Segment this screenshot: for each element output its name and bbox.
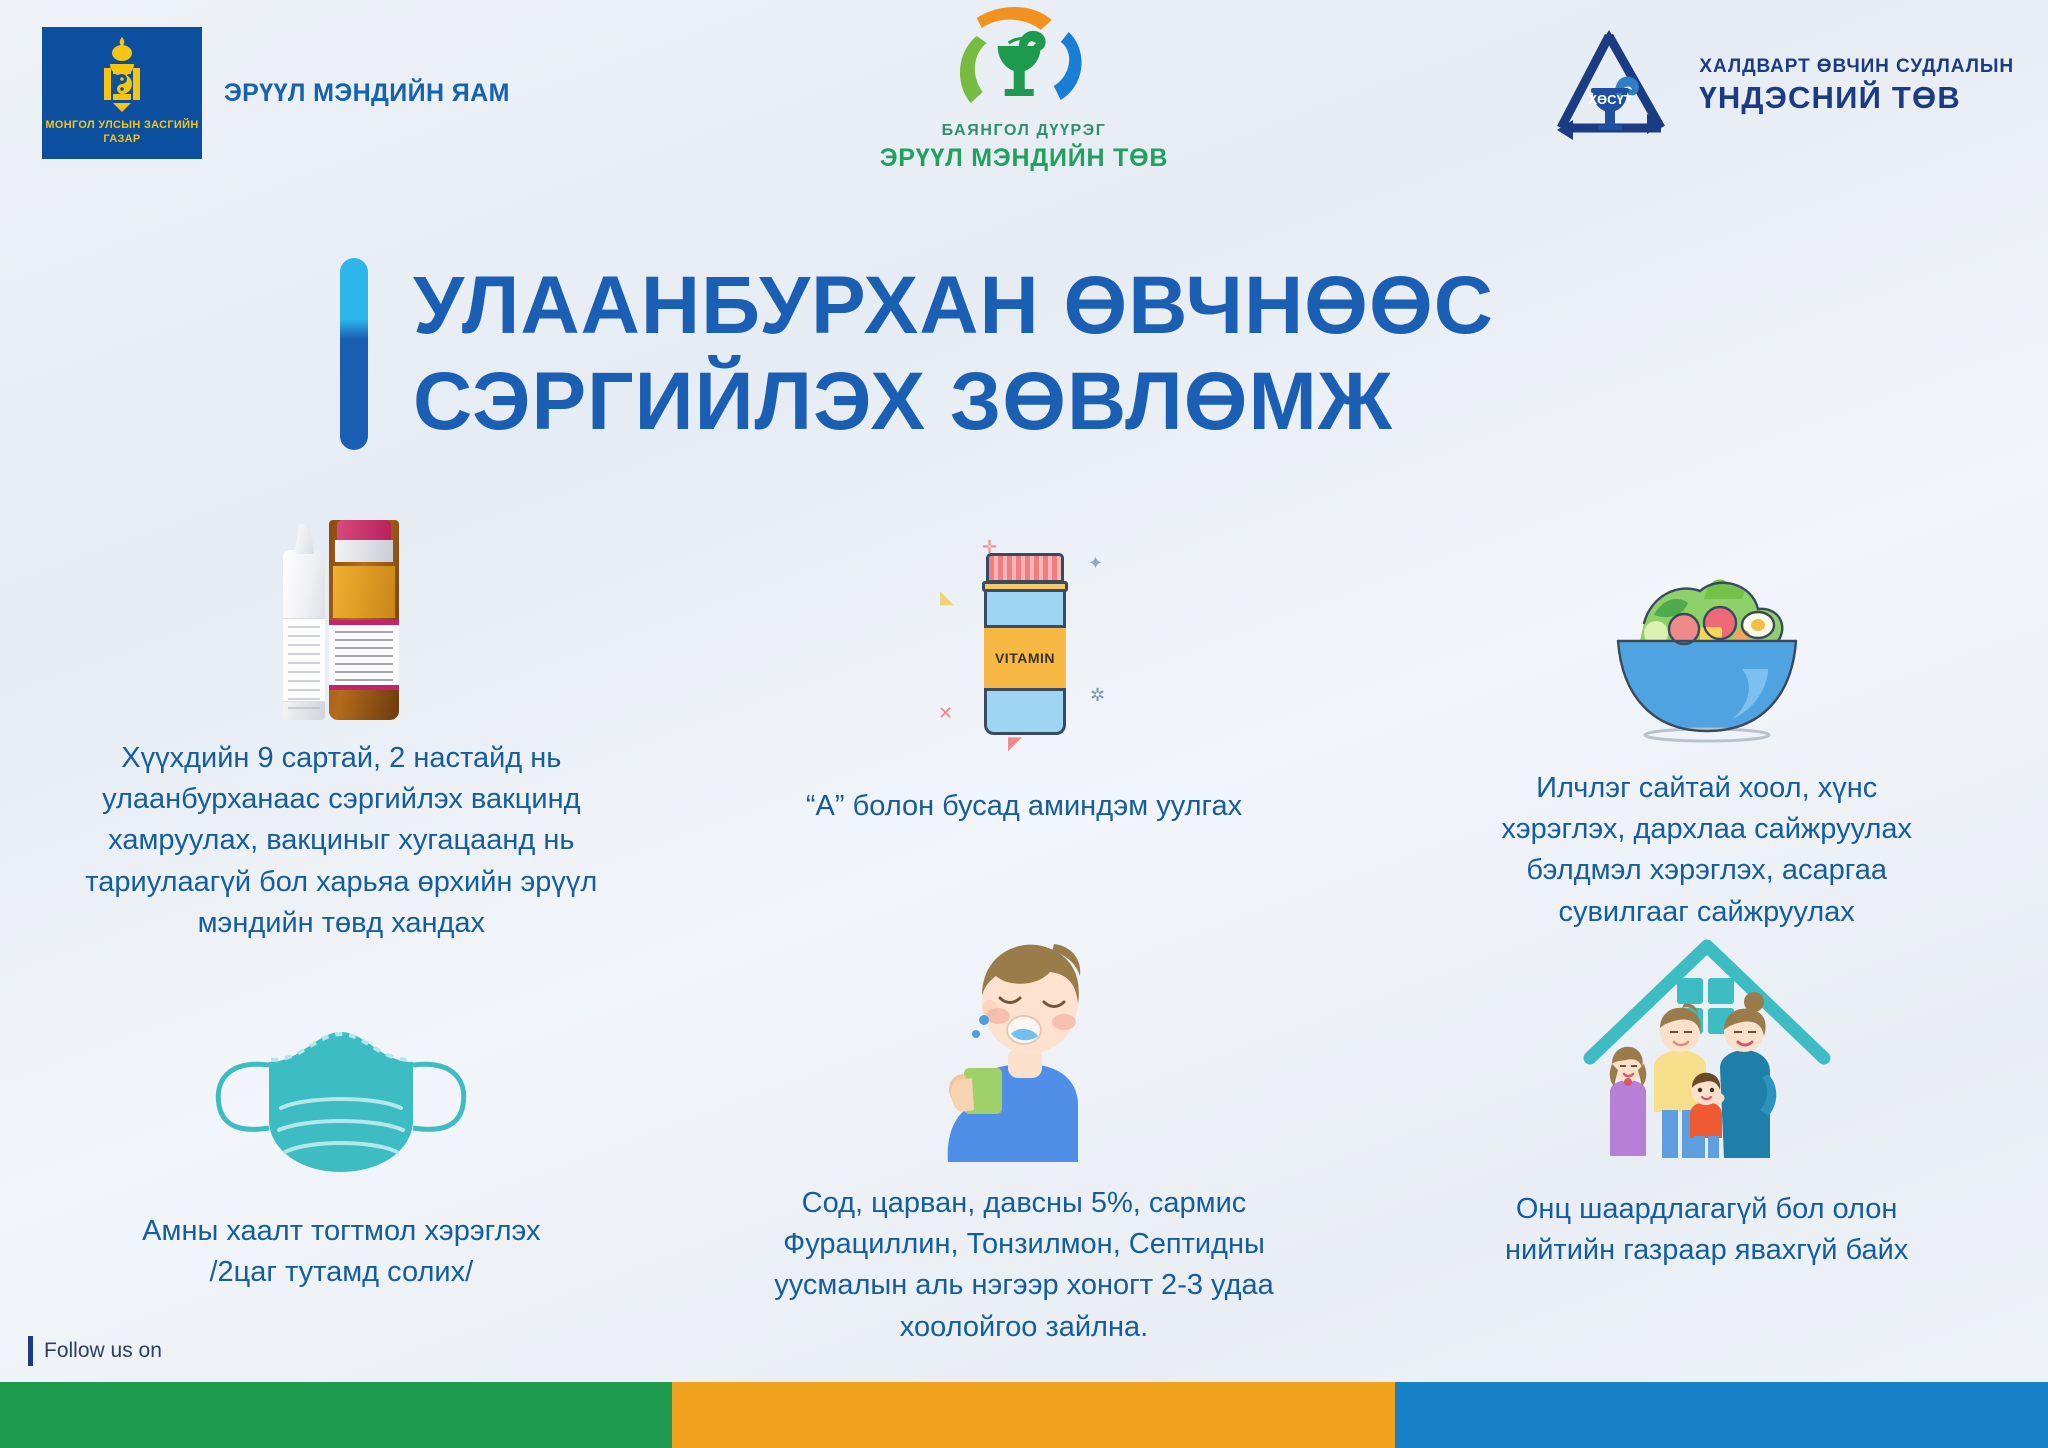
boy-figure xyxy=(1690,1073,1722,1158)
footer-segment-blue xyxy=(1395,1382,2048,1448)
ampoule-label xyxy=(283,618,325,702)
tip-text: Илчлэг сайтай хоол, хүнс хэрэглэх, дархл… xyxy=(1501,768,1912,933)
emblem-caption: МОНГОЛ УЛСЫН ЗАСГИЙН ГАЗАР xyxy=(42,119,202,147)
tip-text: Хүүхдийн 9 сартай, 2 настайд нь улаанбур… xyxy=(85,738,597,944)
follow-accent-bar xyxy=(28,1336,33,1366)
tip-card-nutrition: Илчлэг сайтай хоол, хүнс хэрэглэх, дархл… xyxy=(1365,520,2048,935)
vial-label xyxy=(329,620,399,690)
vial-liquid xyxy=(333,566,395,618)
tip-text: Онц шаардлагагүй бол олон нийтийн газраа… xyxy=(1505,1189,1908,1271)
gargling-boy-icon xyxy=(926,930,1121,1165)
mmr-vial-icon xyxy=(329,520,399,720)
title-accent-bar xyxy=(340,258,368,450)
sparkle-heart-icon: ◤ xyxy=(1008,733,1022,754)
tip-illustration xyxy=(926,935,1121,1165)
nccd-wordmark: ХАЛДВАРТ ӨВЧИН СУДЛАЛЫН ҮНДЭСНИЙ ТӨВ xyxy=(1699,56,2014,116)
vaccine-vial-icon xyxy=(283,520,399,720)
tip-illustration xyxy=(191,935,491,1185)
tips-grid: Хүүхдийн 9 сартай, 2 настайд нь улаанбур… xyxy=(0,520,2048,1355)
footer-color-bar xyxy=(0,1382,2048,1448)
vitamin-bottle-icon: ✛ ✦ ◣ ✕ ✲ ◤ VITAMIN xyxy=(934,535,1114,750)
sparkle-bowtie-icon: ✲ xyxy=(1090,685,1105,706)
title-text: УЛААНБУРХАН ӨВЧНӨӨС СЭРГИЙЛЭХ ЗӨВЛӨМЖ xyxy=(413,258,1494,450)
salad-bowl-icon xyxy=(1592,565,1822,750)
follow-us-block: Follow us on xyxy=(28,1336,162,1366)
sparkle-star-icon: ✦ xyxy=(1088,553,1103,574)
nccd-subtitle: ХАЛДВАРТ ӨВЧИН СУДЛАЛЫН xyxy=(1699,56,2014,78)
tip-card-face-mask: Амны хаалт тогтмол хэрэглэх /2цаг тутамд… xyxy=(0,935,683,1355)
recycle-triangle-serpent-icon: ХӨСҮТ xyxy=(1545,24,1673,148)
tip-card-stay-home: Онц шаардлагагүй бол олон нийтийн газраа… xyxy=(1365,935,2048,1355)
sparkle-cross-icon: ✕ xyxy=(938,703,953,724)
tip-card-gargle: Сод, царван, давсны 5%, сармис Фурацилли… xyxy=(683,935,1366,1355)
vial-cap xyxy=(337,520,391,540)
girl-figure xyxy=(1609,1047,1645,1156)
tip-text: Амны хаалт тогтмол хэрэглэх /2цаг тутамд… xyxy=(142,1211,540,1293)
district-label: БАЯНГОЛ ДҮҮРЭГ xyxy=(942,122,1107,140)
vitamin-bottle-cap xyxy=(986,553,1064,583)
tip-text: Сод, царван, давсны 5%, сармис Фурацилли… xyxy=(774,1183,1274,1348)
nccd-mark-text: ХӨСҮТ xyxy=(1589,92,1632,107)
pharmacy-bowl-swoosh-icon xyxy=(949,4,1099,116)
family-house-icon xyxy=(1582,930,1832,1165)
tip-illustration xyxy=(283,520,399,720)
page-title: УЛААНБУРХАН ӨВЧНӨӨС СЭРГИЙЛЭХ ЗӨВЛӨМЖ xyxy=(340,258,1494,450)
tip-card-vitamins: ✛ ✦ ◣ ✕ ✲ ◤ VITAMIN “А” болон бусад амин… xyxy=(683,520,1366,935)
tip-illustration: ✛ ✦ ◣ ✕ ✲ ◤ VITAMIN xyxy=(934,520,1114,750)
nccd-logo: ХӨСҮТ ХАЛДВАРТ ӨВЧИН СУДЛАЛЫН ҮНДЭСНИЙ Т… xyxy=(1545,24,2014,148)
mongolia-government-emblem: МОНГОЛ УЛСЫН ЗАСГИЙН ГАЗАР xyxy=(42,27,202,159)
vitamin-label-text: VITAMIN xyxy=(995,650,1055,666)
health-center-label: ЭРҮҮЛ МЭНДИЙН ТӨВ xyxy=(880,144,1169,173)
bayangol-health-center-logo: БАЯНГОЛ ДҮҮРЭГ ЭРҮҮЛ МЭНДИЙН ТӨВ xyxy=(880,4,1169,173)
tip-illustration xyxy=(1582,935,1832,1165)
vial-neck xyxy=(335,540,393,562)
ampoule-icon xyxy=(283,550,325,720)
follow-label: Follow us on xyxy=(44,1339,162,1363)
soyombo-icon xyxy=(91,35,153,117)
ministry-of-health-logo: МОНГОЛ УЛСЫН ЗАСГИЙН ГАЗАР ЭРҮҮЛ МЭНДИЙН… xyxy=(42,27,510,159)
sparkle-triangle-icon: ◣ xyxy=(940,587,954,608)
footer-segment-orange xyxy=(672,1382,1395,1448)
nccd-title: ҮНДЭСНИЙ ТӨВ xyxy=(1699,80,2014,116)
vitamin-bottle-label: VITAMIN xyxy=(984,625,1066,691)
ministry-name: ЭРҮҮЛ МЭНДИЙН ЯАМ xyxy=(224,78,510,109)
tip-card-vaccination: Хүүхдийн 9 сартай, 2 настайд нь улаанбур… xyxy=(0,520,683,935)
footer-segment-green xyxy=(0,1382,672,1448)
page-header: МОНГОЛ УЛСЫН ЗАСГИЙН ГАЗАР ЭРҮҮЛ МЭНДИЙН… xyxy=(0,0,2048,215)
face-mask-icon xyxy=(191,1010,491,1185)
tip-text: “А” болон бусад аминдэм уулгах xyxy=(806,786,1242,827)
tip-illustration xyxy=(1592,520,1822,750)
vitamin-bottle-collar xyxy=(982,581,1068,592)
